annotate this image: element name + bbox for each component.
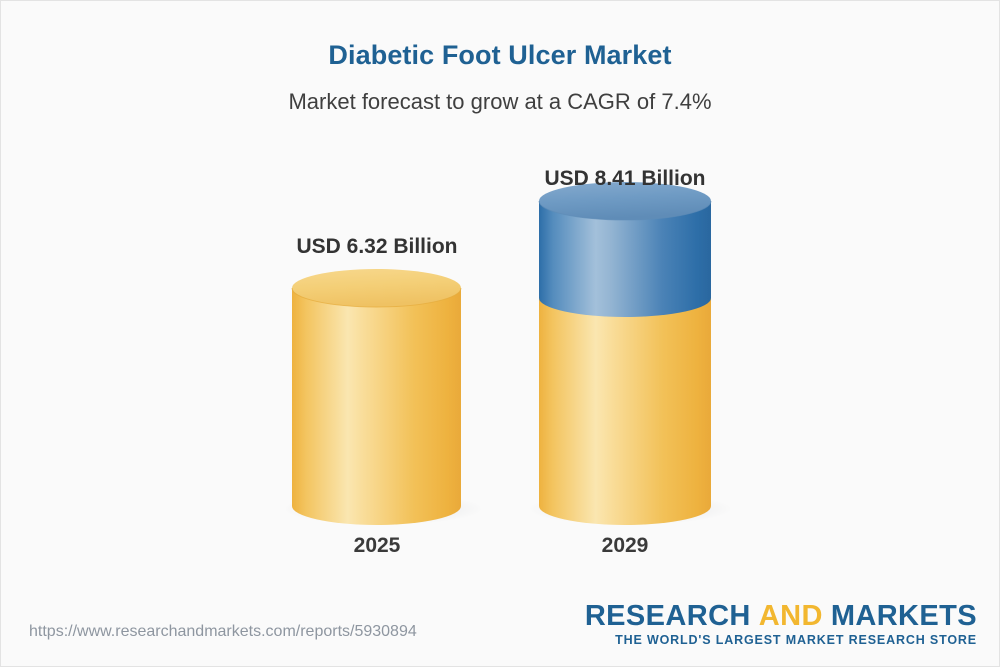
value-label-2029: USD 8.41 Billion — [475, 167, 775, 191]
brand-wordmark: RESEARCHANDMARKETS — [585, 601, 977, 631]
plot-area: USD 6.32 Billion USD 8.41 Billion 2025 2… — [1, 1, 1000, 601]
value-label-2025: USD 6.32 Billion — [227, 235, 527, 259]
chart-card: Diabetic Foot Ulcer Market Market foreca… — [0, 0, 1000, 667]
bar-2029 — [528, 182, 732, 525]
bar-body-2025 — [292, 288, 461, 525]
category-label-2029: 2029 — [525, 534, 725, 558]
brand-word-research: RESEARCH — [585, 600, 751, 632]
cylinder-bars-svg — [1, 1, 1000, 601]
bar-body-base-2029 — [539, 298, 711, 525]
bar-2025 — [283, 269, 483, 525]
brand-logo[interactable]: RESEARCHANDMARKETS THE WORLD'S LARGEST M… — [585, 601, 977, 648]
brand-word-markets: MARKETS — [831, 600, 977, 632]
brand-tagline: THE WORLD'S LARGEST MARKET RESEARCH STOR… — [585, 633, 977, 648]
category-label-2025: 2025 — [277, 534, 477, 558]
brand-word-and: AND — [759, 600, 823, 632]
source-url[interactable]: https://www.researchandmarkets.com/repor… — [29, 623, 417, 641]
